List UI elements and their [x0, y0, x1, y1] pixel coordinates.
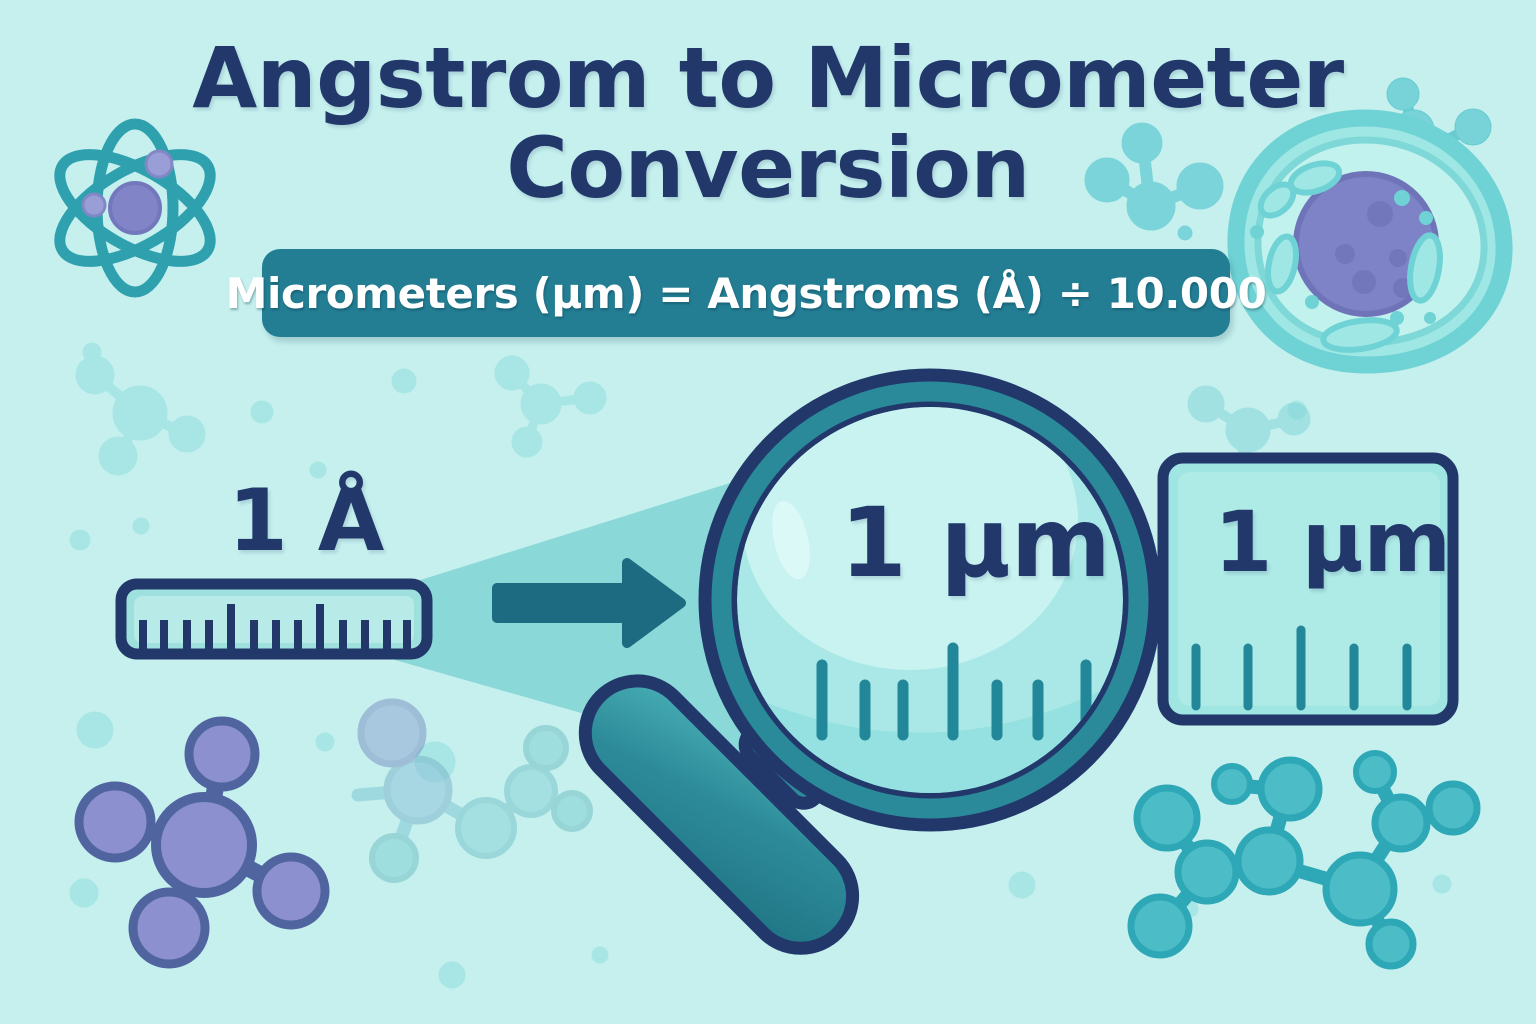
infographic-poster: Angstrom to Micrometer Conversion Microm…: [0, 0, 1536, 1024]
label-panel-unit: 1 μm: [1214, 500, 1451, 584]
label-lens-unit: 1 μm: [840, 495, 1111, 591]
formula-text: Micrometers (μm) = Angstroms (Å) ÷ 10.00…: [226, 269, 1267, 318]
label-source-unit: 1 Å: [228, 478, 384, 564]
page-title-line-1: Angstrom to Micrometer: [0, 36, 1536, 120]
formula-banner: Micrometers (μm) = Angstroms (Å) ÷ 10.00…: [262, 249, 1230, 337]
page-title-line-2: Conversion: [0, 126, 1536, 210]
ruler-icon-angstrom: [121, 584, 427, 654]
